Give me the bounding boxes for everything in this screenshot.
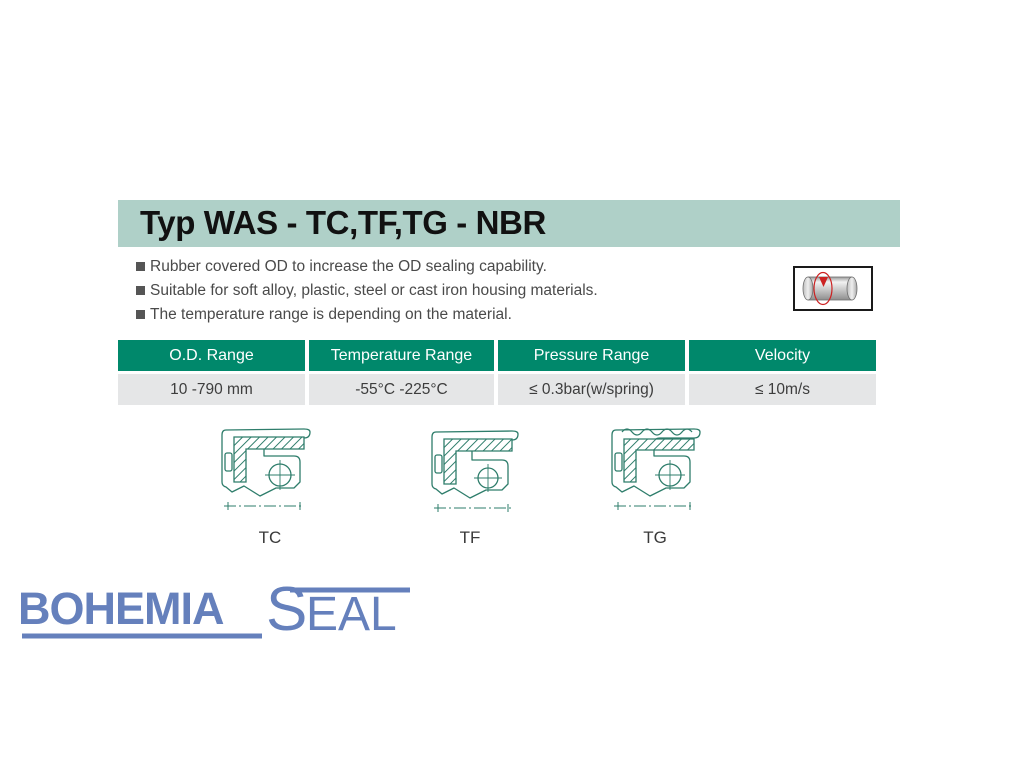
- cell-temperature-range: -55°C -225°C: [309, 374, 494, 405]
- seal-label-tf: TF: [440, 528, 500, 548]
- table-header-row: O.D. Range Temperature Range Pressure Ra…: [118, 340, 876, 371]
- seal-tc-svg: [208, 420, 338, 530]
- logo-text-eal: EAL: [306, 588, 397, 641]
- logo-text-bohemia: BOHEMIA: [18, 583, 224, 634]
- table-row: 10 -790 mm -55°C -225°C ≤ 0.3bar(w/sprin…: [118, 374, 876, 405]
- cell-od-range: 10 -790 mm: [118, 374, 305, 405]
- specification-table: O.D. Range Temperature Range Pressure Ra…: [118, 340, 876, 405]
- bullet-square-icon: [136, 262, 145, 271]
- list-item: Suitable for soft alloy, plastic, steel …: [136, 280, 756, 303]
- cell-velocity: ≤ 10m/s: [689, 374, 876, 405]
- list-item: The temperature range is depending on th…: [136, 304, 756, 327]
- bohemia-seal-logo: BOHEMIA S EAL: [18, 578, 418, 648]
- title-banner: Typ WAS - TC,TF,TG - NBR: [118, 200, 900, 247]
- page-title: Typ WAS - TC,TF,TG - NBR: [140, 204, 546, 242]
- column-header-temperature-range: Temperature Range: [309, 340, 494, 371]
- bullet-text: Suitable for soft alloy, plastic, steel …: [150, 280, 598, 301]
- column-header-velocity: Velocity: [689, 340, 876, 371]
- feature-bullet-list: Rubber covered OD to increase the OD sea…: [136, 256, 756, 328]
- logo-svg: BOHEMIA S EAL: [18, 578, 418, 648]
- seal-diagram-tf: [418, 422, 548, 532]
- column-header-pressure-range: Pressure Range: [498, 340, 685, 371]
- bullet-square-icon: [136, 286, 145, 295]
- bullet-text: The temperature range is depending on th…: [150, 304, 512, 325]
- bullet-square-icon: [136, 310, 145, 319]
- seal-tg-svg: [598, 420, 728, 530]
- seal-diagram-tc: [208, 420, 338, 530]
- column-header-od-range: O.D. Range: [118, 340, 305, 371]
- list-item: Rubber covered OD to increase the OD sea…: [136, 256, 756, 279]
- cell-pressure-range: ≤ 0.3bar(w/spring): [498, 374, 685, 405]
- rotating-shaft-icon: [793, 266, 873, 311]
- seal-label-tc: TC: [240, 528, 300, 548]
- seal-label-tg: TG: [625, 528, 685, 548]
- bullet-text: Rubber covered OD to increase the OD sea…: [150, 256, 547, 277]
- seal-tf-svg: [418, 422, 548, 532]
- seal-diagram-tg: [598, 420, 728, 530]
- rotating-shaft-svg: [795, 268, 871, 309]
